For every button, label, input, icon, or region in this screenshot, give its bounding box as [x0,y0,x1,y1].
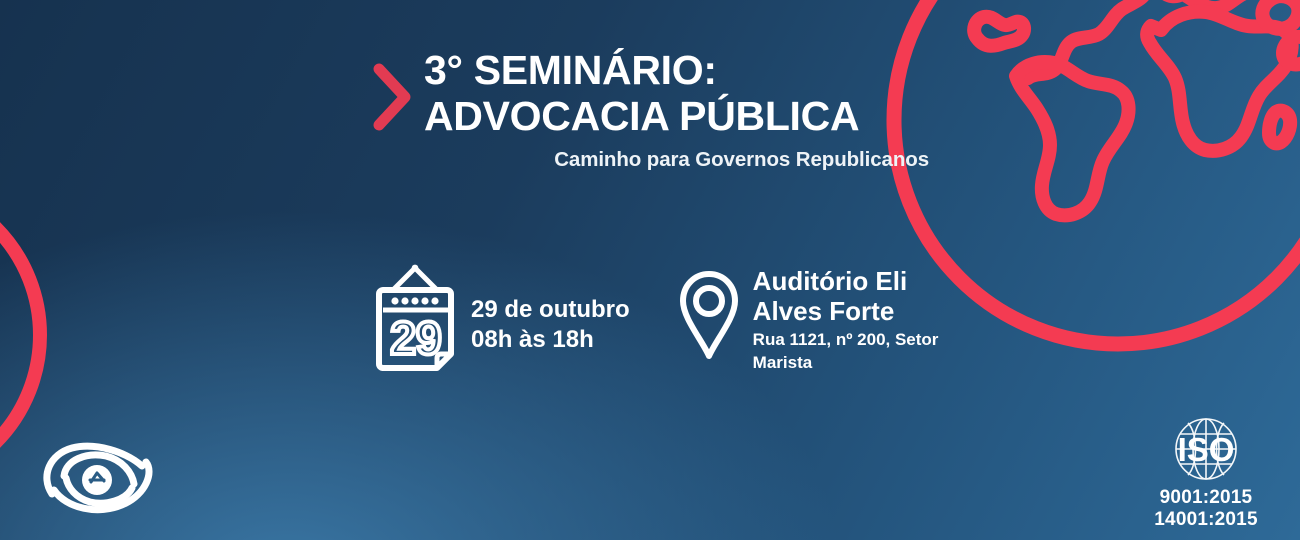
chevron-right-icon [372,62,414,132]
event-location-item: Auditório Eli Alves Forte Rua 1121, nº 2… [678,262,953,374]
event-banner: 3° SEMINÁRIO: ADVOCACIA PÚBLICA Caminho … [0,0,1300,540]
date-line-2: 08h às 18h [471,325,630,355]
iso-cert-2: 14001:2015 [1146,509,1266,530]
map-pin-icon [678,268,740,362]
title-line-1: 3° SEMINÁRIO: [424,48,932,94]
calendar-day-number: 29 [390,312,441,364]
venue-name-line-2: Alves Forte [753,296,953,326]
subtitle: Caminho para Governos Republicanos [424,148,932,172]
location-text: Auditório Eli Alves Forte Rua 1121, nº 2… [753,262,953,374]
calendar-icon: 29 [372,262,458,374]
iso-certification-badge: ISO 9001:2015 14001:2015 [1146,411,1266,530]
iso-globe-icon: ISO [1158,411,1254,487]
iso-mark-text: ISO [1178,431,1235,468]
date-line-1: 29 de outubro [471,295,630,325]
date-text: 29 de outubro 08h às 18h [471,262,630,355]
title-lines: 3° SEMINÁRIO: ADVOCACIA PÚBLICA Caminho … [424,48,932,172]
event-date-item: 29 29 de outubro 08h às 18h [372,262,630,374]
venue-address: Rua 1121, nº 200, Setor Marista [753,329,953,374]
event-info-row: 29 29 de outubro 08h às 18h Auditório El… [372,262,953,374]
venue-name-line-1: Auditório Eli [753,266,953,296]
title-line-2: ADVOCACIA PÚBLICA [424,94,932,140]
iso-cert-1: 9001:2015 [1146,487,1266,508]
eye-swirl-logo-icon [34,432,164,522]
headline-block: 3° SEMINÁRIO: ADVOCACIA PÚBLICA Caminho … [372,48,932,172]
